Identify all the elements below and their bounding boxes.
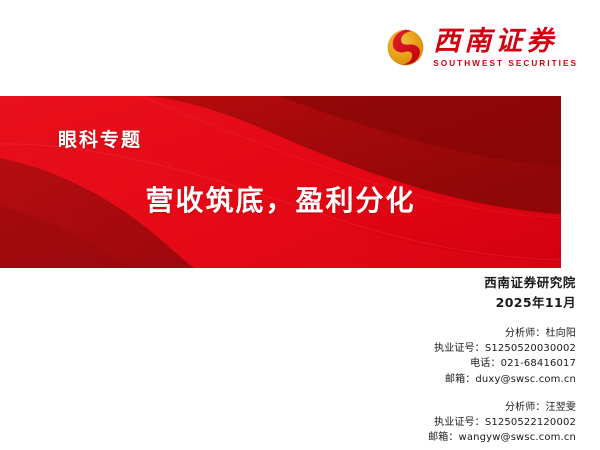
analyst-email: 邮箱：duxy@swsc.com.cn — [428, 372, 576, 387]
analyst-email: 邮箱：wangyw@swsc.com.cn — [428, 430, 576, 445]
analyst-license: 执业证号：S1250520030002 — [428, 341, 576, 356]
analyst-card: 分析师：杜向阳 执业证号：S1250520030002 电话：021-68416… — [428, 326, 576, 387]
brand-wordmark: 西南证券 SOUTHWEST SECURITIES — [433, 28, 578, 68]
analyst-license: 执业证号：S1250522120002 — [428, 415, 576, 430]
analyst-contact-list: 分析师：杜向阳 执业证号：S1250520030002 电话：021-68416… — [428, 326, 576, 445]
brand-header: 西南证券 SOUTHWEST SECURITIES — [0, 0, 600, 96]
report-cover-slide: 西南证券 SOUTHWEST SECURITIES — [0, 0, 600, 450]
analyst-name: 分析师：汪翌雯 — [428, 400, 576, 415]
title-banner: 眼科专题 营收筑底，盈利分化 — [0, 96, 561, 268]
brand-name-en: SOUTHWEST SECURITIES — [433, 60, 578, 68]
southwest-securities-circular-swirl-logo-icon — [387, 29, 424, 66]
page-title: 营收筑底，盈利分化 — [0, 179, 561, 219]
brand-name-cn: 西南证券 — [433, 28, 557, 56]
issuer-institute: 西南证券研究院 — [484, 274, 576, 293]
analyst-name: 分析师：杜向阳 — [428, 326, 576, 341]
issuer-date: 2025年11月 — [484, 293, 576, 313]
analyst-phone: 电话：021-68416017 — [428, 356, 576, 371]
issuer-block: 西南证券研究院 2025年11月 — [484, 274, 576, 313]
analyst-card: 分析师：汪翌雯 执业证号：S1250522120002 邮箱：wangyw@sw… — [428, 400, 576, 446]
banner-kicker: 眼科专题 — [58, 125, 142, 152]
brand-logo-lockup: 西南证券 SOUTHWEST SECURITIES — [387, 28, 578, 68]
